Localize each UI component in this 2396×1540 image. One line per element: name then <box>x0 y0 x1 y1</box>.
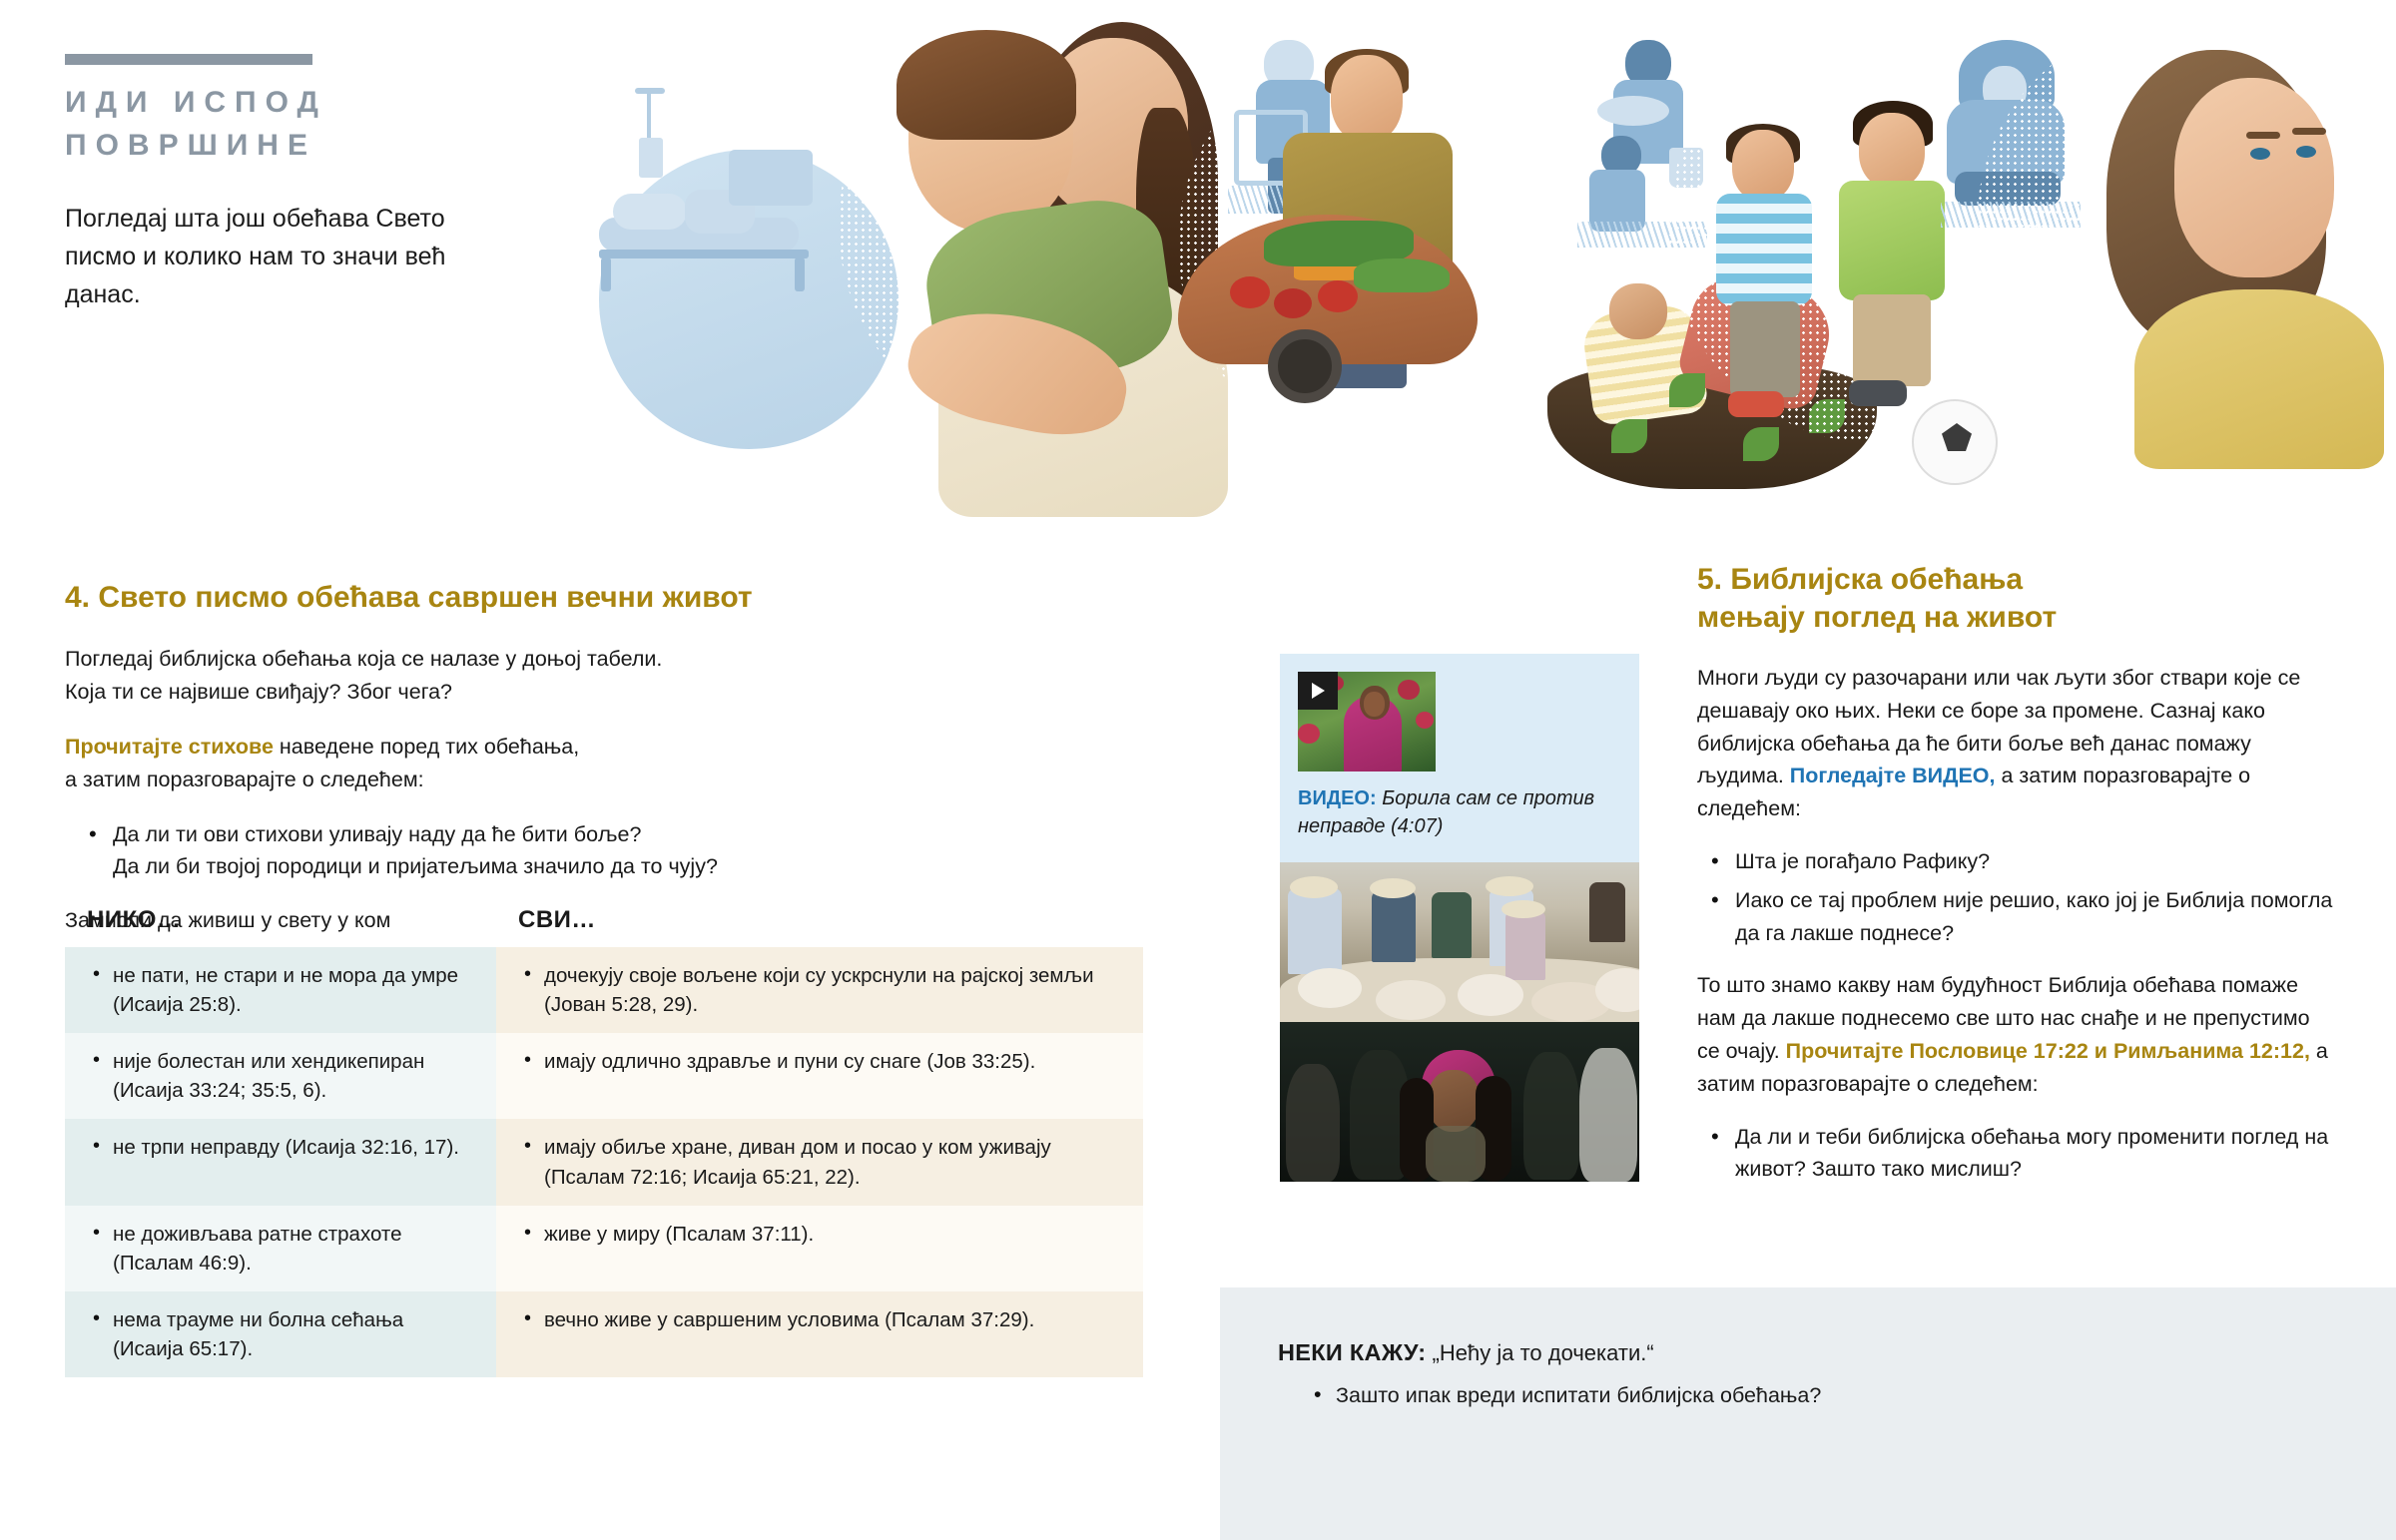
list-item: имају одлично здравље и пуни су снаге (Ј… <box>544 1047 1121 1076</box>
page-kicker: ИДИ ИСПОД ПОВРШИНЕ <box>65 82 484 167</box>
section-4-p2-line2: а затим поразговарајте о следећем: <box>65 768 424 791</box>
table-cell-right: живе у миру (Псалам 37:11). <box>496 1206 1143 1291</box>
some-say-question-list: Зашто ипак вреди испитати библијска обећ… <box>1278 1380 2396 1411</box>
list-item: није болестан или хендикепиран (Исаија 3… <box>113 1047 474 1105</box>
play-button[interactable] <box>1298 672 1338 710</box>
video-column: ВИДЕО: Борила сам се против неправде (4:… <box>1280 654 1639 1182</box>
table-cell-right: имају обиље хране, диван дом и посао у к… <box>496 1119 1143 1205</box>
section-5: 5. Библијска обећања мењају поглед на жи… <box>1697 561 2336 1205</box>
video-callout-box[interactable]: ВИДЕО: Борила сам се против неправде (4:… <box>1280 654 1639 862</box>
table-row: нема трауме ни болна сећања (Исаија 65:1… <box>65 1291 1143 1377</box>
smiling-woman-figure <box>2096 40 2396 459</box>
section-4-question-list: Да ли ти ови стихови уливају наду да ће … <box>65 818 1143 883</box>
soccer-ball-icon <box>1912 399 1998 485</box>
watch-video-link[interactable]: Погледајте ВИДЕО, <box>1790 764 1996 787</box>
column-header-everyone: СВИ… <box>496 906 1143 934</box>
section-4-bullet-1a: Да ли ти ови стихови уливају наду да ће … <box>113 822 641 846</box>
promises-table: НИКО… СВИ… не пати, не стари и не мора д… <box>65 906 1143 1377</box>
table-cell-left: нема трауме ни болна сећања (Исаија 65:1… <box>65 1291 496 1377</box>
section-4-p1-line2: Која ти се највише свиђају? Због чега? <box>65 680 452 704</box>
section-4-bullet-1b: Да ли би твојој породици и пријатељима з… <box>113 854 718 878</box>
some-say-label: НЕКИ КАЖУ: <box>1278 1339 1426 1365</box>
video-thumbnail[interactable] <box>1298 672 1436 771</box>
list-item: живе у миру (Псалам 37:11). <box>544 1220 1121 1249</box>
list-item: не доживљава ратне страхоте (Псалам 46:9… <box>113 1220 474 1278</box>
table-row: није болестан или хендикепиран (Исаија 3… <box>65 1033 1143 1119</box>
section-5-heading-line1: 5. Библијска обећања <box>1697 563 2023 596</box>
table-cell-left: не пати, не стари и не мора да умре (Иса… <box>65 947 496 1033</box>
hero-illustration <box>539 0 2396 544</box>
section-4-paragraph-1: Погледај библијска обећања која се налаз… <box>65 643 1143 709</box>
column-header-nobody: НИКО… <box>65 906 496 934</box>
page-root: ИДИ ИСПОД ПОВРШИНЕ Погледај шта још обећ… <box>0 0 2396 1540</box>
table-cell-right: имају одлично здравље и пуни су снаге (Ј… <box>496 1033 1143 1119</box>
video-label: ВИДЕО: <box>1298 787 1377 809</box>
video-caption: ВИДЕО: Борила сам се против неправде (4:… <box>1298 785 1621 840</box>
list-item: нема трауме ни болна сећања (Исаија 65:1… <box>113 1305 474 1363</box>
table-row: не пати, не стари и не мора да умре (Иса… <box>65 947 1143 1033</box>
list-item: дочекују своје вољене који су ускрснули … <box>544 961 1121 1019</box>
list-item: вечно живе у савршеним условима (Псалам … <box>544 1305 1121 1334</box>
list-item: Иако се тај проблем није решио, како јој… <box>1735 884 2336 949</box>
section-4-paragraph-2: Прочитајте стихове наведене поред тих об… <box>65 731 1143 796</box>
section-4-heading: 4. Свето писмо обећава савршен вечни жив… <box>65 579 1143 617</box>
child-playing-1-figure <box>1702 130 1822 419</box>
section-5-question-list-2: Да ли и теби библијска обећања могу пром… <box>1697 1121 2336 1186</box>
some-say-box: НЕКИ КАЖУ: „Нећу ја то дочекати.“ Зашто … <box>1220 1287 2396 1540</box>
table-cell-right: вечно живе у савршеним условима (Псалам … <box>496 1291 1143 1377</box>
list-item: имају обиље хране, диван дом и посао у к… <box>544 1133 1121 1191</box>
section-4-p1-line1: Погледај библијска обећања која се налаз… <box>65 647 662 671</box>
table-row: не доживљава ратне страхоте (Псалам 46:9… <box>65 1206 1143 1291</box>
list-item: Шта је погађало Рафику? <box>1735 845 2336 877</box>
some-say-quote: „Нећу ја то дочекати.“ <box>1433 1340 1654 1365</box>
page-lede: Погледај шта још обећава Свето писмо и к… <box>65 200 464 313</box>
list-item: не пати, не стари и не мора да умре (Иса… <box>113 961 474 1019</box>
table-cell-left: не доживљава ратне страхоте (Псалам 46:9… <box>65 1206 496 1291</box>
list-item: Да ли и теби библијска обећања могу пром… <box>1735 1121 2336 1186</box>
some-say-lead: НЕКИ КАЖУ: „Нећу ја то дочекати.“ <box>1278 1339 2396 1366</box>
section-5-heading-line2: мењају поглед на живот <box>1697 601 2057 634</box>
list-item: Да ли ти ови стихови уливају наду да ће … <box>113 818 1143 883</box>
hospital-bed-ghost-icon <box>599 120 829 279</box>
title-rule-divider <box>65 54 312 65</box>
wheelbarrow-wheel <box>1268 329 1342 403</box>
photo-smiling-woman <box>1280 1022 1639 1182</box>
section-5-heading: 5. Библијска обећања мењају поглед на жи… <box>1697 561 2336 638</box>
promises-table-header: НИКО… СВИ… <box>65 906 1143 934</box>
section-4: 4. Свето писмо обећава савршен вечни жив… <box>65 579 1143 959</box>
section-5-paragraph-1: Многи људи су разочарани или чак љути зб… <box>1697 662 2336 825</box>
section-5-question-list-1: Шта је погађало Рафику? Иако се тај проб… <box>1697 845 2336 949</box>
photo-cotton-field <box>1280 862 1639 1022</box>
list-item: Зашто ипак вреди испитати библијска обећ… <box>1336 1380 2396 1411</box>
table-cell-left: није болестан или хендикепиран (Исаија 3… <box>65 1033 496 1119</box>
section-4-p2-rest: наведене поред тих обећања, <box>274 735 579 759</box>
table-cell-right: дочекују своје вољене који су ускрснули … <box>496 947 1143 1033</box>
list-item: не трпи неправду (Исаија 32:16, 17). <box>113 1133 474 1162</box>
read-scriptures-link[interactable]: Прочитајте стихове <box>65 735 274 759</box>
section-5-paragraph-2: То што знамо какву нам будућност Библија… <box>1697 969 2336 1101</box>
table-row: не трпи неправду (Исаија 32:16, 17). има… <box>65 1119 1143 1205</box>
read-proverbs-romans-link[interactable]: Прочитајте Пословице 17:22 и Римљанима 1… <box>1786 1039 2310 1063</box>
table-cell-left: не трпи неправду (Исаија 32:16, 17). <box>65 1119 496 1205</box>
